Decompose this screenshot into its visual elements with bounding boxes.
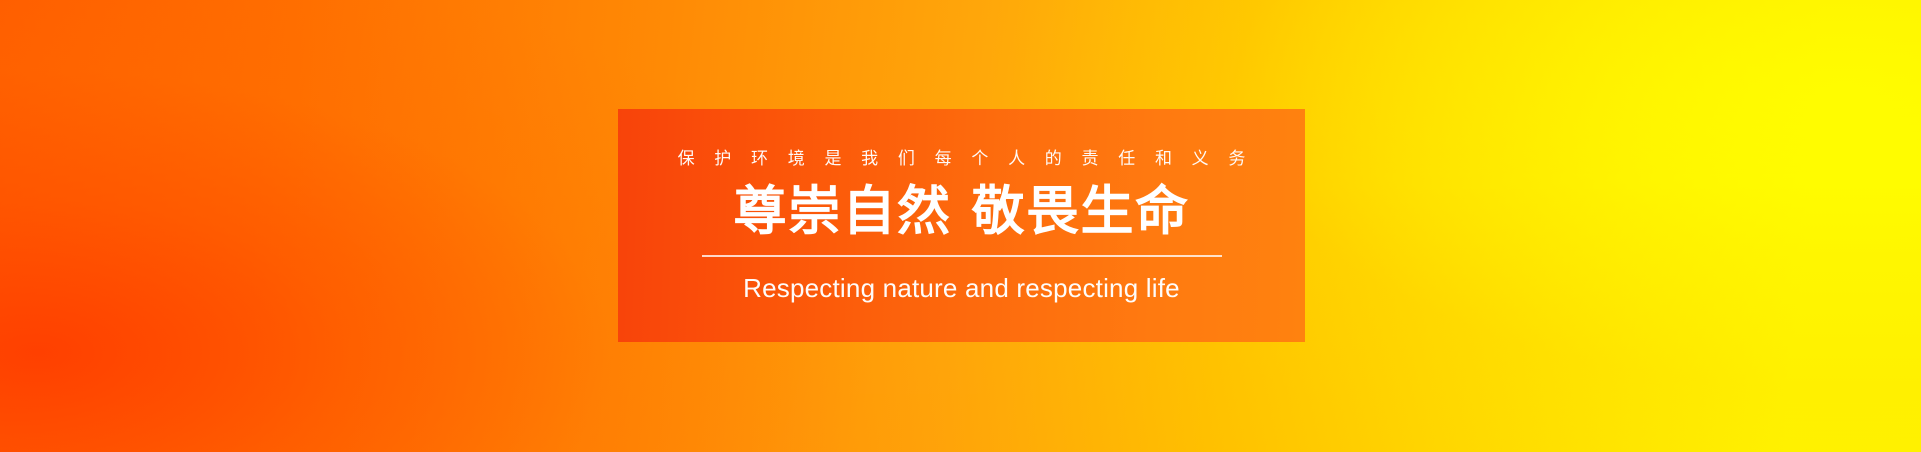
divider-rule [702,255,1222,257]
headline-part-one: 尊崇自然 [734,182,952,241]
environmental-banner: 保 护 环 境 是 我 们 每 个 人 的 责 任 和 义 务 尊崇自然敬畏生命… [0,0,1921,452]
headline-part-two: 敬畏生命 [972,182,1190,241]
eyebrow-slogan: 保 护 环 境 是 我 们 每 个 人 的 责 任 和 义 务 [670,150,1253,167]
subtitle-english: Respecting nature and respecting life [743,275,1180,301]
headline: 尊崇自然敬畏生命 [734,183,1190,240]
content-panel: 保 护 环 境 是 我 们 每 个 人 的 责 任 和 义 务 尊崇自然敬畏生命… [618,109,1305,342]
